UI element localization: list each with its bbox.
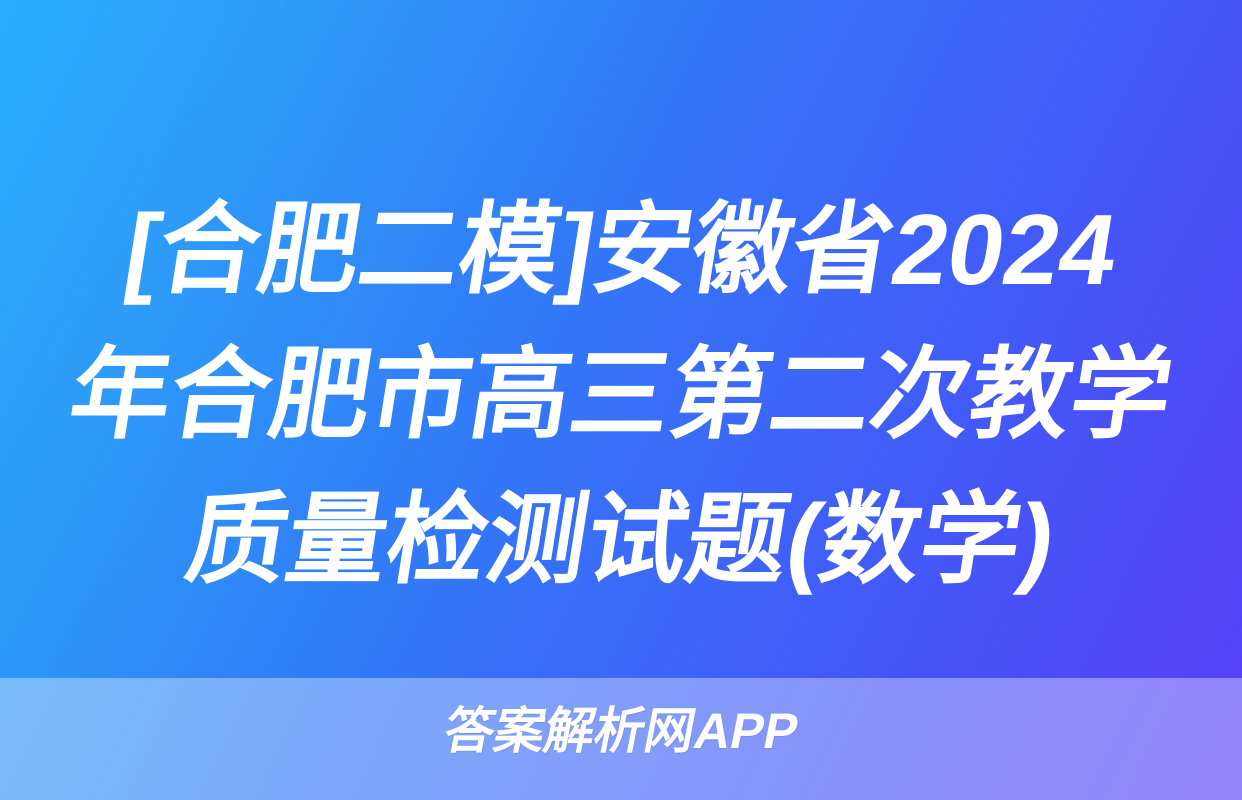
title-line-1: [合肥二模]安徽省2024 — [37, 178, 1206, 323]
exam-title-banner: [合肥二模]安徽省2024 年合肥市高三第二次教学 质量检测试题(数学) 答案解… — [0, 0, 1242, 800]
title-line-3: 质量检测试题(数学) — [37, 468, 1206, 613]
app-watermark-label: 答案解析网APP — [439, 703, 803, 759]
watermark-row: 答案解析网APP — [0, 703, 1242, 759]
page-title: [合肥二模]安徽省2024 年合肥市高三第二次教学 质量检测试题(数学) — [0, 178, 1242, 613]
title-line-2: 年合肥市高三第二次教学 — [37, 323, 1206, 468]
